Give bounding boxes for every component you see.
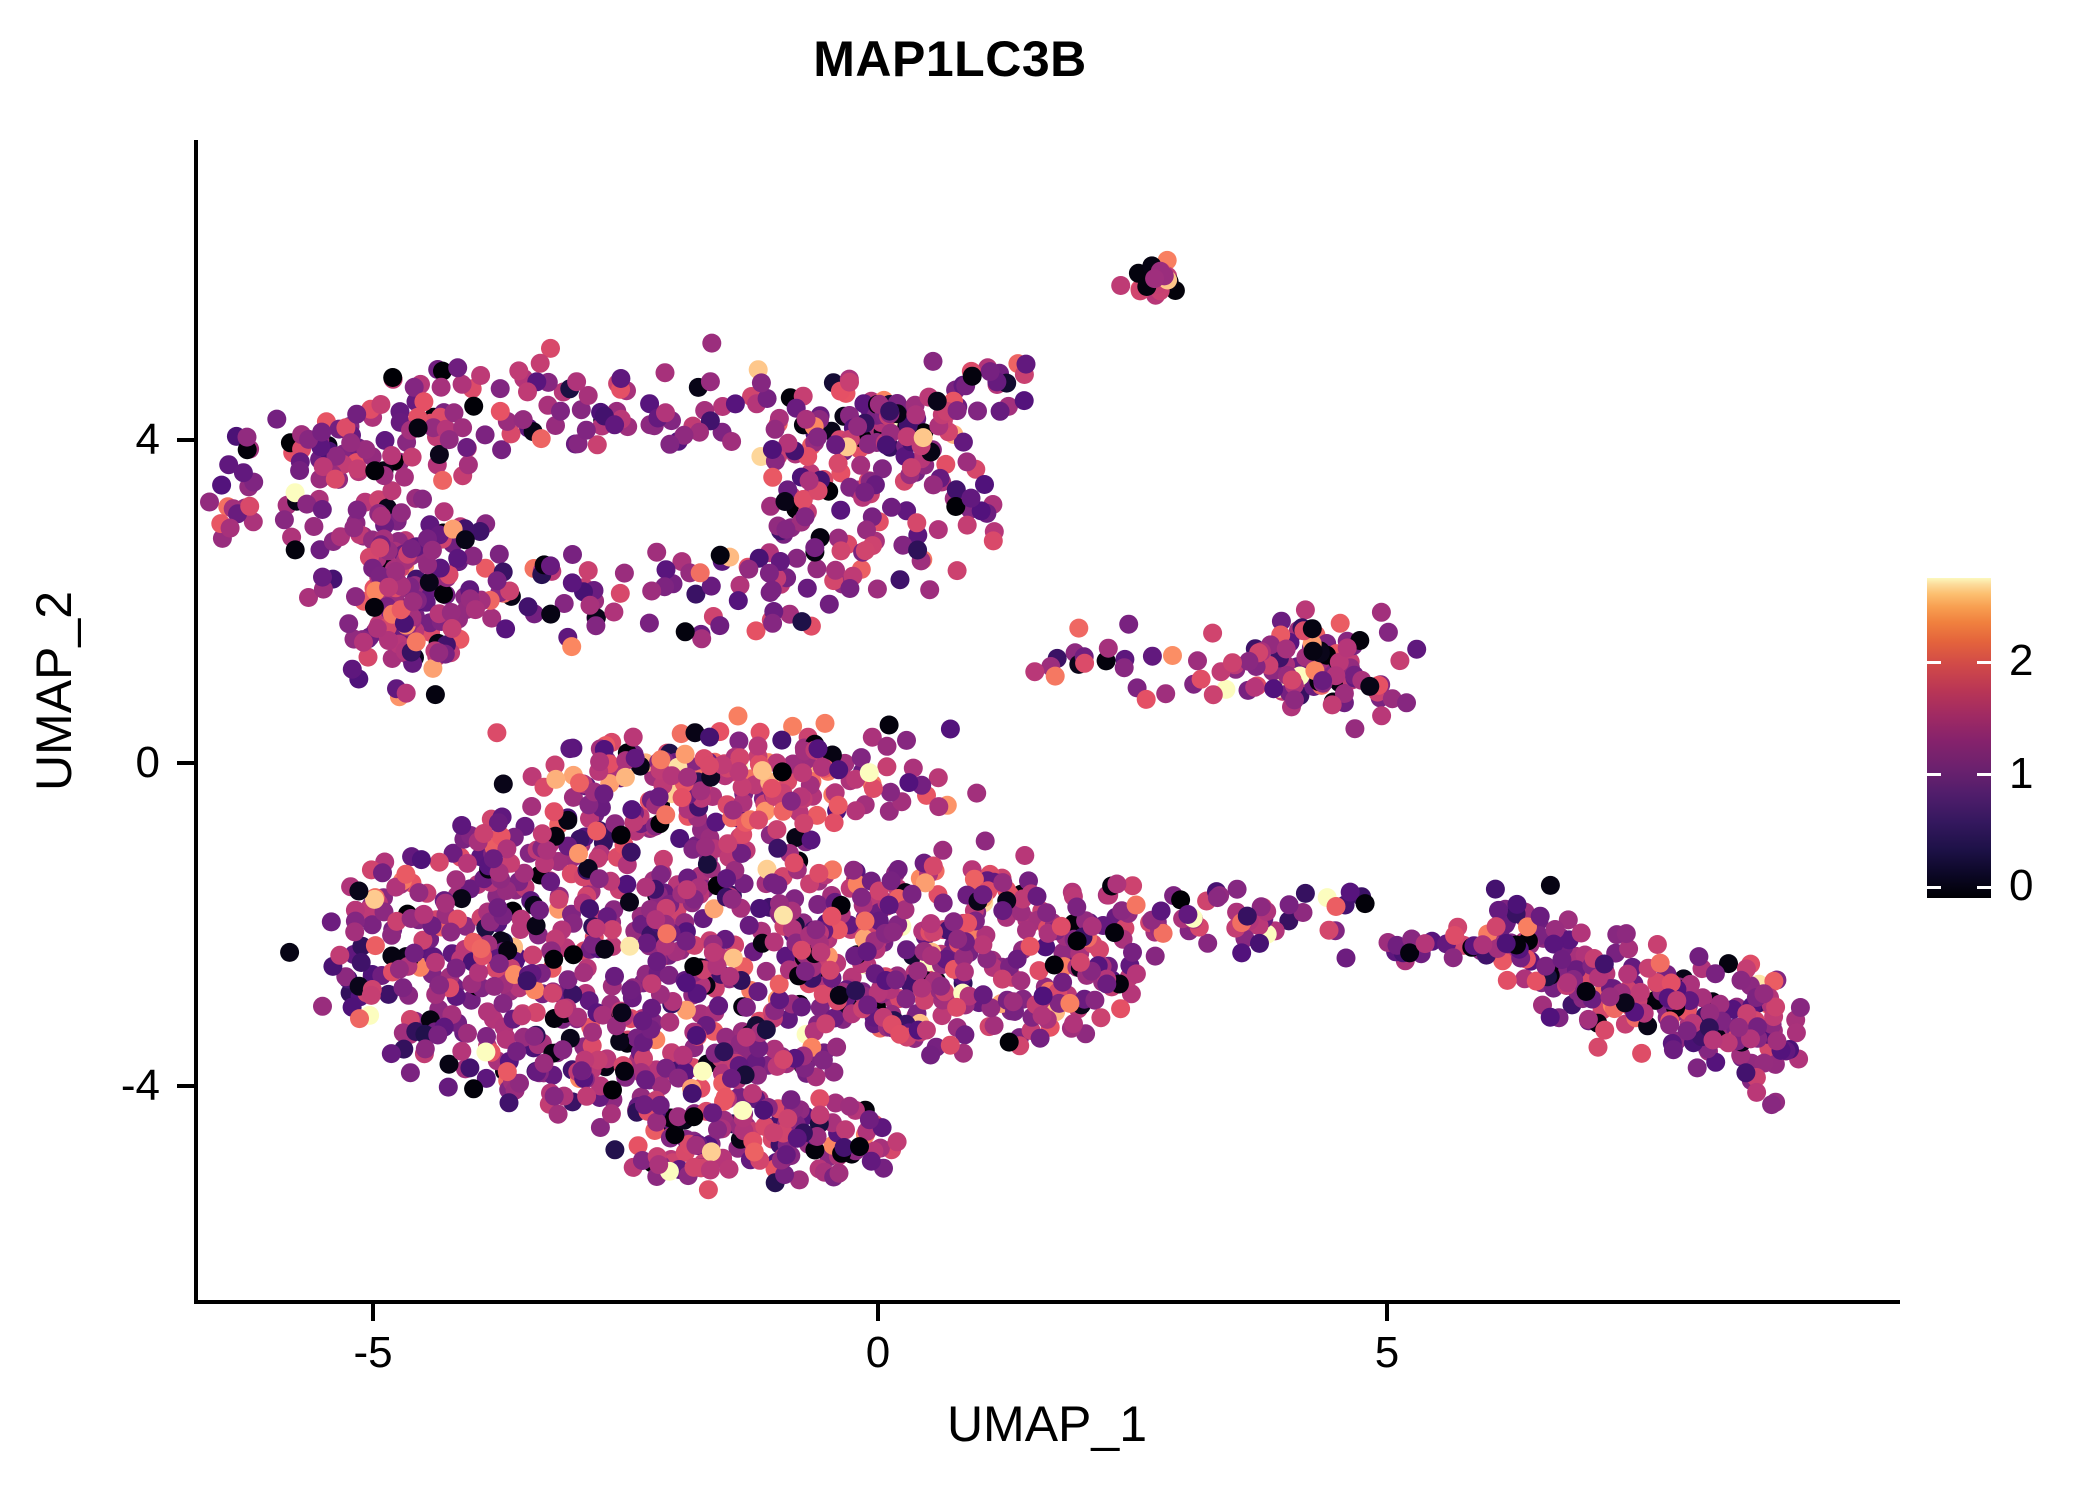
scatter-point xyxy=(1250,934,1269,953)
scatter-point xyxy=(890,1025,909,1044)
scatter-point xyxy=(1766,1093,1785,1112)
scatter-point xyxy=(704,1022,723,1041)
scatter-point xyxy=(391,413,410,432)
scatter-point xyxy=(730,1117,749,1136)
scatter-point xyxy=(773,762,792,781)
scatter-point xyxy=(1303,634,1322,653)
scatter-point xyxy=(1639,959,1658,978)
scatter-point xyxy=(796,962,815,981)
scatter-point xyxy=(501,854,520,873)
scatter-point xyxy=(1294,621,1313,640)
scatter-point xyxy=(562,864,581,883)
scatter-point xyxy=(617,381,636,400)
scatter-point xyxy=(787,934,806,953)
scatter-point xyxy=(478,935,497,954)
scatter-point xyxy=(394,978,413,997)
scatter-point xyxy=(840,478,859,497)
scatter-point xyxy=(650,914,669,933)
scatter-point xyxy=(1035,995,1054,1014)
scatter-point xyxy=(888,394,907,413)
scatter-point xyxy=(834,983,853,1002)
scatter-point xyxy=(1498,971,1517,990)
scatter-point xyxy=(1305,661,1324,680)
colorbar-tick-2-left xyxy=(1927,661,1941,664)
scatter-point xyxy=(633,1011,652,1030)
scatter-point xyxy=(507,970,526,989)
scatter-point xyxy=(1143,272,1162,291)
scatter-point xyxy=(366,622,385,641)
scatter-point xyxy=(1572,924,1591,943)
scatter-point xyxy=(373,863,392,882)
scatter-point xyxy=(369,490,388,509)
y-tick-label--4: -4 xyxy=(0,1060,160,1112)
scatter-point xyxy=(810,410,829,429)
scatter-point xyxy=(319,436,338,455)
scatter-point xyxy=(967,903,986,922)
scatter-point xyxy=(633,1009,652,1028)
scatter-point xyxy=(1539,960,1558,979)
scatter-point xyxy=(974,985,993,1004)
scatter-point xyxy=(568,1008,587,1027)
scatter-point xyxy=(393,871,412,890)
scatter-point xyxy=(496,1028,515,1047)
scatter-point xyxy=(1712,1012,1731,1031)
scatter-point xyxy=(763,873,782,892)
scatter-point xyxy=(505,965,524,984)
scatter-point xyxy=(458,854,477,873)
scatter-point xyxy=(1688,1058,1707,1077)
scatter-point xyxy=(614,1056,633,1075)
scatter-point xyxy=(870,882,889,901)
scatter-point xyxy=(689,798,708,817)
scatter-point xyxy=(766,452,785,471)
scatter-point xyxy=(586,608,605,627)
scatter-point xyxy=(401,577,420,596)
scatter-point xyxy=(953,967,972,986)
scatter-point xyxy=(541,605,560,624)
scatter-point xyxy=(1336,896,1355,915)
scatter-point xyxy=(602,733,621,752)
scatter-point xyxy=(423,965,442,984)
scatter-point xyxy=(732,844,751,863)
x-tick-label--5: -5 xyxy=(293,1327,453,1379)
scatter-point xyxy=(365,579,384,598)
scatter-point xyxy=(456,940,475,959)
scatter-point xyxy=(558,808,577,827)
scatter-point xyxy=(608,848,627,867)
scatter-point xyxy=(829,760,848,779)
scatter-point xyxy=(1131,280,1150,299)
scatter-point xyxy=(345,922,364,941)
scatter-point xyxy=(543,959,562,978)
scatter-point xyxy=(611,768,630,787)
scatter-point xyxy=(1736,1063,1755,1082)
scatter-point xyxy=(947,480,966,499)
scatter-point xyxy=(649,1155,668,1174)
scatter-point xyxy=(744,942,763,961)
scatter-point xyxy=(1621,997,1640,1016)
scatter-point xyxy=(1288,682,1307,701)
scatter-point xyxy=(785,1049,804,1068)
scatter-point xyxy=(881,783,900,802)
scatter-point xyxy=(1552,950,1571,969)
scatter-point xyxy=(1595,960,1614,979)
scatter-point xyxy=(1145,269,1164,288)
scatter-point xyxy=(1595,1021,1614,1040)
scatter-point xyxy=(352,953,371,972)
scatter-point xyxy=(416,1039,435,1058)
scatter-point xyxy=(391,875,410,894)
scatter-point xyxy=(818,753,837,772)
scatter-point xyxy=(642,582,661,601)
scatter-point xyxy=(857,521,876,540)
scatter-point xyxy=(938,398,957,417)
scatter-point xyxy=(629,1136,648,1155)
scatter-point xyxy=(890,989,909,1008)
scatter-point xyxy=(1077,966,1096,985)
scatter-point xyxy=(685,963,704,982)
scatter-point xyxy=(760,898,779,917)
scatter-point xyxy=(924,352,943,371)
scatter-point xyxy=(413,906,432,925)
scatter-point xyxy=(741,769,760,788)
scatter-point xyxy=(728,1139,747,1158)
scatter-point xyxy=(651,761,670,780)
scatter-point xyxy=(1314,652,1333,671)
scatter-point xyxy=(731,899,750,918)
scatter-point xyxy=(503,902,522,921)
scatter-point xyxy=(498,412,517,431)
scatter-point xyxy=(616,1068,635,1087)
scatter-point xyxy=(686,1136,705,1155)
scatter-point xyxy=(310,450,329,469)
scatter-point xyxy=(685,1104,704,1123)
scatter-point xyxy=(581,809,600,828)
scatter-point xyxy=(790,1170,809,1189)
scatter-point xyxy=(785,889,804,908)
scatter-point xyxy=(420,930,439,949)
scatter-point xyxy=(690,423,709,442)
scatter-point xyxy=(801,464,820,483)
scatter-point xyxy=(791,948,810,967)
scatter-point xyxy=(1619,939,1638,958)
scatter-point xyxy=(808,806,827,825)
scatter-point xyxy=(660,966,679,985)
scatter-point xyxy=(385,587,404,606)
scatter-point xyxy=(632,915,651,934)
scatter-point xyxy=(799,1135,818,1154)
scatter-point xyxy=(1151,262,1170,281)
scatter-point xyxy=(804,1127,823,1146)
scatter-point xyxy=(697,976,716,995)
scatter-point xyxy=(898,407,917,426)
scatter-point xyxy=(1309,672,1328,691)
scatter-point xyxy=(713,423,732,442)
scatter-point xyxy=(595,1056,614,1075)
scatter-point xyxy=(906,396,925,415)
scatter-point xyxy=(708,876,727,895)
scatter-point xyxy=(316,445,335,464)
scatter-point xyxy=(627,1103,646,1122)
scatter-point xyxy=(1327,897,1346,916)
scatter-point xyxy=(1356,894,1375,913)
scatter-point xyxy=(706,1150,725,1169)
scatter-point xyxy=(410,576,429,595)
scatter-point xyxy=(1000,1033,1019,1052)
scatter-point xyxy=(691,781,710,800)
scatter-point xyxy=(1372,706,1391,725)
scatter-point xyxy=(464,933,483,952)
scatter-point xyxy=(417,884,436,903)
scatter-point xyxy=(661,1128,680,1147)
scatter-point xyxy=(631,1043,650,1062)
scatter-point xyxy=(771,575,790,594)
scatter-point xyxy=(770,904,789,923)
scatter-point xyxy=(797,750,816,769)
scatter-point xyxy=(641,925,660,944)
scatter-point xyxy=(792,941,811,960)
scatter-point xyxy=(544,982,563,1001)
scatter-point xyxy=(407,392,426,411)
scatter-point xyxy=(1719,1033,1738,1052)
scatter-point xyxy=(773,784,792,803)
scatter-point xyxy=(428,1026,447,1045)
scatter-point xyxy=(754,1101,773,1120)
scatter-point xyxy=(729,591,748,610)
scatter-point xyxy=(853,429,872,448)
scatter-point xyxy=(669,1107,688,1126)
scatter-point xyxy=(677,932,696,951)
scatter-point xyxy=(1604,979,1623,998)
scatter-point xyxy=(676,745,695,764)
scatter-point xyxy=(822,912,841,931)
scatter-point xyxy=(933,1006,952,1025)
scatter-point xyxy=(726,394,745,413)
scatter-point xyxy=(440,978,459,997)
scatter-point xyxy=(840,373,859,392)
scatter-point xyxy=(891,570,910,589)
scatter-point xyxy=(1254,909,1273,928)
scatter-point xyxy=(883,989,902,1008)
scatter-point xyxy=(454,830,473,849)
scatter-point xyxy=(923,440,942,459)
scatter-point xyxy=(1495,944,1514,963)
scatter-point xyxy=(823,969,842,988)
scatter-point xyxy=(722,432,741,451)
scatter-point xyxy=(852,560,871,579)
scatter-point xyxy=(834,407,853,426)
scatter-point xyxy=(1056,927,1075,946)
scatter-point xyxy=(733,1101,752,1120)
scatter-point xyxy=(488,949,507,968)
scatter-point xyxy=(1488,939,1507,958)
scatter-point xyxy=(827,1038,846,1057)
scatter-point xyxy=(1315,636,1334,655)
scatter-point xyxy=(850,1137,869,1156)
scatter-point xyxy=(1296,600,1315,619)
scatter-point xyxy=(363,447,382,466)
scatter-point xyxy=(805,1022,824,1041)
scatter-point xyxy=(811,406,830,425)
scatter-point xyxy=(822,907,841,926)
scatter-point xyxy=(680,1135,699,1154)
scatter-point xyxy=(1296,884,1315,903)
scatter-point xyxy=(443,534,462,553)
scatter-point xyxy=(478,1002,497,1021)
scatter-point xyxy=(451,950,470,969)
scatter-point xyxy=(1248,676,1267,695)
scatter-point xyxy=(433,530,452,549)
scatter-point xyxy=(1226,919,1245,938)
scatter-point xyxy=(774,867,793,886)
scatter-point xyxy=(1723,1000,1742,1019)
scatter-point xyxy=(377,562,396,581)
scatter-point xyxy=(564,766,583,785)
scatter-point xyxy=(437,586,456,605)
scatter-point xyxy=(489,813,508,832)
scatter-point xyxy=(1017,921,1036,940)
scatter-point xyxy=(814,931,833,950)
scatter-point xyxy=(931,945,950,964)
scatter-point xyxy=(357,983,376,1002)
scatter-point xyxy=(787,1115,806,1134)
scatter-point xyxy=(1736,1019,1755,1038)
scatter-point xyxy=(830,430,849,449)
scatter-point xyxy=(1058,986,1077,1005)
scatter-point xyxy=(1239,652,1258,671)
scatter-point xyxy=(475,869,494,888)
scatter-point xyxy=(1589,968,1608,987)
scatter-point xyxy=(368,549,387,568)
scatter-point xyxy=(1307,646,1326,665)
scatter-point xyxy=(407,537,426,556)
scatter-point xyxy=(577,421,596,440)
scatter-point xyxy=(703,1103,722,1122)
scatter-point xyxy=(490,954,509,973)
scatter-point xyxy=(514,369,533,388)
scatter-point xyxy=(417,549,436,568)
scatter-point xyxy=(1437,934,1456,953)
scatter-point xyxy=(720,969,739,988)
scatter-point xyxy=(1228,880,1247,899)
scatter-point xyxy=(1040,982,1059,1001)
scatter-point xyxy=(822,422,841,441)
scatter-point xyxy=(677,922,696,941)
scatter-point xyxy=(926,862,945,881)
scatter-point xyxy=(1762,1095,1781,1114)
scatter-point xyxy=(1777,1041,1796,1060)
scatter-point xyxy=(212,476,231,495)
scatter-point xyxy=(356,493,375,512)
scatter-point xyxy=(656,937,675,956)
scatter-point xyxy=(1080,913,1099,932)
scatter-point xyxy=(555,594,574,613)
scatter-point xyxy=(397,947,416,966)
scatter-point xyxy=(432,612,451,631)
scatter-point xyxy=(809,864,828,883)
scatter-point xyxy=(1647,973,1666,992)
scatter-point xyxy=(1383,689,1402,708)
scatter-point xyxy=(587,608,606,627)
scatter-point xyxy=(669,432,688,451)
scatter-point xyxy=(392,503,411,522)
scatter-point xyxy=(1727,1029,1746,1048)
scatter-point xyxy=(551,402,570,421)
scatter-point xyxy=(490,545,509,564)
scatter-point xyxy=(385,542,404,561)
scatter-point xyxy=(647,1060,666,1079)
scatter-point xyxy=(1335,693,1354,712)
scatter-point xyxy=(772,1108,791,1127)
scatter-point xyxy=(712,965,731,984)
scatter-point xyxy=(736,813,755,832)
scatter-point xyxy=(1311,643,1330,662)
scatter-point xyxy=(594,784,613,803)
scatter-point xyxy=(682,1079,701,1098)
scatter-point xyxy=(844,419,863,438)
scatter-point xyxy=(524,1038,543,1057)
scatter-point xyxy=(397,616,416,635)
scatter-point xyxy=(1034,987,1053,1006)
scatter-point xyxy=(866,424,885,443)
scatter-point xyxy=(853,999,872,1018)
scatter-point xyxy=(814,470,833,489)
scatter-point xyxy=(874,1159,893,1178)
scatter-point xyxy=(781,1115,800,1134)
scatter-point xyxy=(384,370,403,389)
scatter-point xyxy=(1045,956,1064,975)
scatter-point xyxy=(829,454,848,473)
scatter-point xyxy=(369,568,388,587)
scatter-point xyxy=(317,412,336,431)
scatter-point xyxy=(865,1008,884,1027)
scatter-point xyxy=(958,452,977,471)
scatter-point xyxy=(711,546,730,565)
scatter-point xyxy=(388,512,407,531)
scatter-point xyxy=(716,930,735,949)
scatter-point xyxy=(808,895,827,914)
scatter-point xyxy=(344,945,363,964)
scatter-point xyxy=(689,378,708,397)
scatter-point xyxy=(1703,1008,1722,1027)
scatter-point xyxy=(457,600,476,619)
scatter-point xyxy=(605,1140,624,1159)
scatter-point xyxy=(903,885,922,904)
scatter-point xyxy=(871,1139,890,1158)
scatter-point xyxy=(506,952,525,971)
scatter-point xyxy=(737,1043,756,1062)
scatter-point xyxy=(972,501,991,520)
scatter-point xyxy=(740,916,759,935)
scatter-point xyxy=(927,956,946,975)
scatter-point xyxy=(1033,1006,1052,1025)
scatter-point xyxy=(805,944,824,963)
scatter-point xyxy=(1477,946,1496,965)
scatter-point xyxy=(398,905,417,924)
scatter-point xyxy=(1066,923,1085,942)
scatter-point xyxy=(620,937,639,956)
scatter-point xyxy=(759,1056,778,1075)
scatter-point xyxy=(805,417,824,436)
scatter-point xyxy=(402,847,421,866)
scatter-point xyxy=(787,549,806,568)
scatter-point xyxy=(792,998,811,1017)
scatter-point xyxy=(1316,656,1335,675)
scatter-point xyxy=(406,1012,425,1031)
scatter-point xyxy=(710,722,729,741)
scatter-point xyxy=(838,535,857,554)
scatter-point xyxy=(1560,930,1579,949)
